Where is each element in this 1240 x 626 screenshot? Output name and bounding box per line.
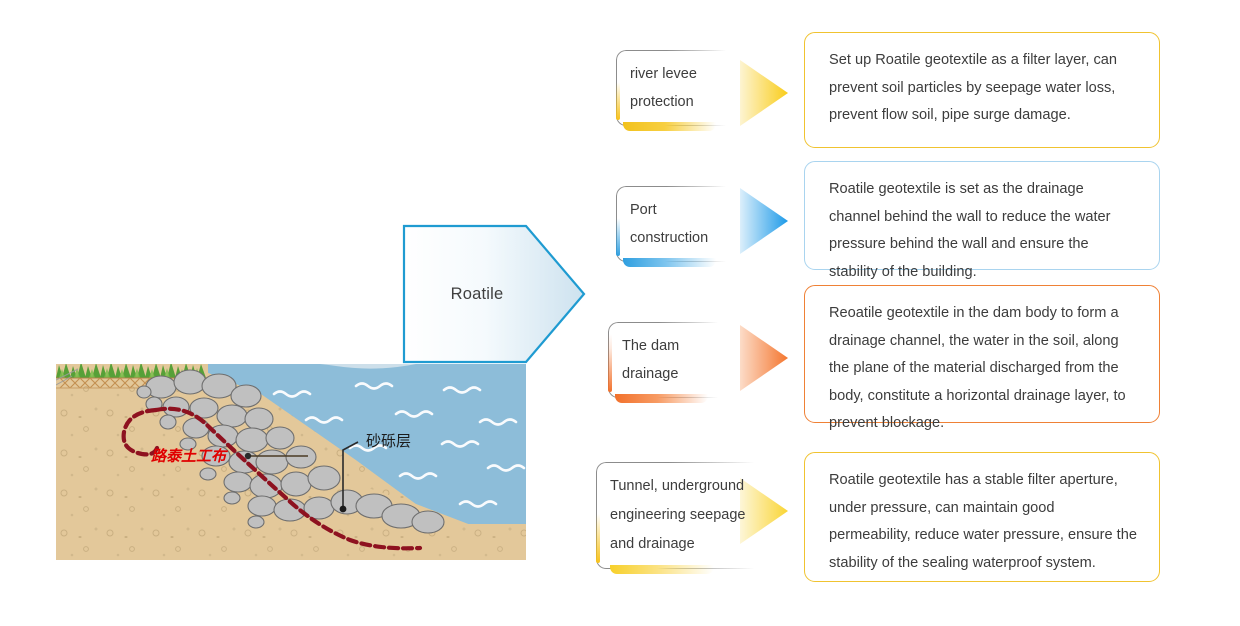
description-box-tunnel-underground-engineering: Roatile geotextile has a stable filter a… (804, 452, 1160, 582)
description-text: Reoatile geotextile in the dam body to f… (829, 300, 1137, 438)
description-text: Roatile geotextile is set as the drainag… (829, 176, 1137, 286)
card-underbar (610, 565, 714, 574)
card-accent-edge (608, 334, 612, 392)
description-text: Set up Roatile geotextile as a filter la… (829, 47, 1137, 130)
category-card-port-construction[interactable]: Port construction (616, 186, 736, 262)
center-pentagon: Roatile (402, 224, 587, 364)
card-accent-edge (616, 62, 620, 120)
arrow-river-levee-protection (740, 60, 788, 126)
category-label: river levee protection (630, 60, 734, 116)
card-accent-edge (616, 198, 620, 256)
river-levee-illustration: 路泰土工布 砂砾层 (56, 364, 526, 560)
arrow-port-construction (740, 188, 788, 254)
category-label: Tunnel, underground engineering seepage … (610, 472, 766, 559)
card-underbar (623, 258, 716, 267)
geotextile-label: 路泰土工布 (151, 447, 229, 465)
card-underbar (615, 394, 708, 403)
card-accent-edge (596, 474, 600, 563)
description-box-river-levee-protection: Set up Roatile geotextile as a filter la… (804, 32, 1160, 148)
category-label: Port construction (630, 196, 734, 252)
arrow-the-dam-drainage (740, 325, 788, 391)
center-label: Roatile (402, 224, 552, 364)
description-box-the-dam-drainage: Reoatile geotextile in the dam body to f… (804, 285, 1160, 423)
category-card-river-levee-protection[interactable]: river levee protection (616, 50, 736, 126)
category-card-tunnel-underground-engineering[interactable]: Tunnel, underground engineering seepage … (596, 462, 768, 569)
gravel-layer-label: 砂砾层 (366, 432, 411, 450)
category-label: The dam drainage (622, 332, 726, 388)
description-text: Roatile geotextile has a stable filter a… (829, 467, 1137, 577)
illustration-svg: 路泰土工布 砂砾层 (56, 364, 526, 560)
description-box-port-construction: Roatile geotextile is set as the drainag… (804, 161, 1160, 270)
category-card-the-dam-drainage[interactable]: The dam drainage (608, 322, 728, 398)
card-underbar (623, 122, 716, 131)
